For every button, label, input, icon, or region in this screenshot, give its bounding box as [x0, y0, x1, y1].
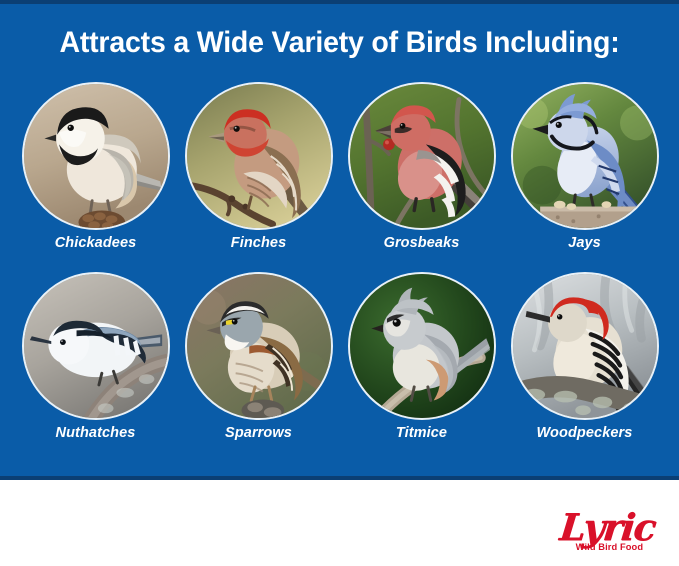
brand-logo: Lyric Wild Bird Food: [560, 509, 655, 553]
bird-cell-jays[interactable]: Jays: [503, 82, 666, 272]
bird-cell-sparrows[interactable]: Sparrows: [177, 272, 340, 462]
page-title: Attracts a Wide Variety of Birds Includi…: [17, 26, 662, 60]
bird-label: Finches: [177, 235, 340, 251]
bird-cell-chickadees[interactable]: Chickadees: [14, 82, 177, 272]
bird-photo-nuthatches: [22, 272, 170, 420]
bird-label: Nuthatches: [14, 425, 177, 441]
bird-label: Woodpeckers: [503, 425, 666, 441]
poster: Attracts a Wide Variety of Birds Includi…: [0, 0, 679, 566]
bird-photo-finches: [185, 82, 333, 230]
bird-label: Sparrows: [177, 425, 340, 441]
logo-wordmark: Lyric: [558, 509, 657, 546]
bird-cell-finches[interactable]: Finches: [177, 82, 340, 272]
bird-photo-jays: [511, 82, 659, 230]
bird-photo-chickadees: [22, 82, 170, 230]
bird-label: Chickadees: [14, 235, 177, 251]
finch-illustration: [187, 84, 331, 228]
bird-photo-grosbeaks: [348, 82, 496, 230]
panel-top-edge: [0, 0, 679, 4]
titmouse-illustration: [350, 274, 494, 418]
bird-photo-titmice: [348, 272, 496, 420]
bird-cell-nuthatches[interactable]: Nuthatches: [14, 272, 177, 462]
bird-cell-titmice[interactable]: Titmice: [340, 272, 503, 462]
bird-label: Grosbeaks: [340, 235, 503, 251]
woodpecker-illustration: [513, 274, 657, 418]
jay-illustration: [513, 84, 657, 228]
bird-label: Jays: [503, 235, 666, 251]
panel-bottom-edge: [0, 476, 679, 480]
blue-panel: Attracts a Wide Variety of Birds Includi…: [0, 0, 679, 480]
bird-cell-woodpeckers[interactable]: Woodpeckers: [503, 272, 666, 462]
chickadee-illustration: [24, 84, 168, 228]
sparrow-illustration: [187, 274, 331, 418]
bird-cell-grosbeaks[interactable]: Grosbeaks: [340, 82, 503, 272]
logo-tagline: Wild Bird Food: [561, 543, 658, 553]
nuthatch-illustration: [24, 274, 168, 418]
grosbeak-illustration: [350, 84, 494, 228]
bird-label: Titmice: [340, 425, 503, 441]
bird-grid: Chickadees: [14, 82, 666, 462]
bird-photo-woodpeckers: [511, 272, 659, 420]
bird-photo-sparrows: [185, 272, 333, 420]
